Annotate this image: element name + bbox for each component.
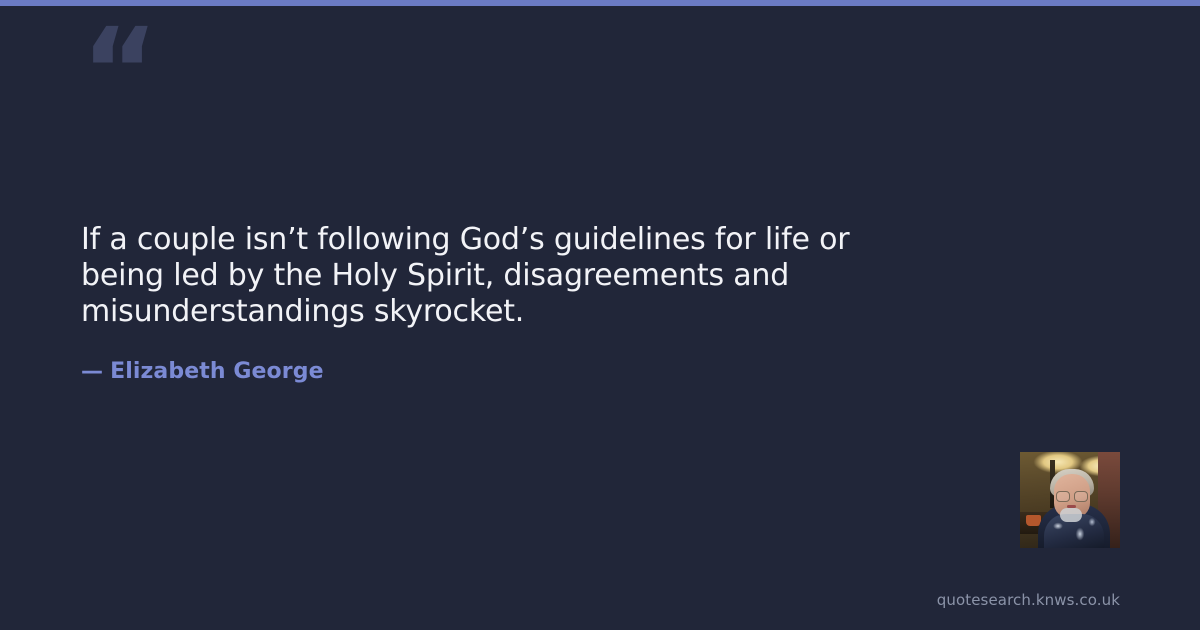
opening-quote-mark-icon: “ (81, 12, 157, 130)
quote-attribution: —Elizabeth George (81, 359, 981, 384)
attribution-dash: — (81, 359, 103, 384)
source-url-label: quotesearch.knws.co.uk (937, 591, 1120, 609)
top-accent-bar (0, 0, 1200, 6)
portrait-glasses (1056, 491, 1088, 500)
quote-text: If a couple isn’t following God’s guidel… (81, 222, 926, 330)
author-portrait-image (1020, 452, 1120, 548)
portrait-collar (1060, 508, 1082, 522)
quote-block: If a couple isn’t following God’s guidel… (81, 222, 981, 384)
author-name: Elizabeth George (110, 359, 323, 384)
